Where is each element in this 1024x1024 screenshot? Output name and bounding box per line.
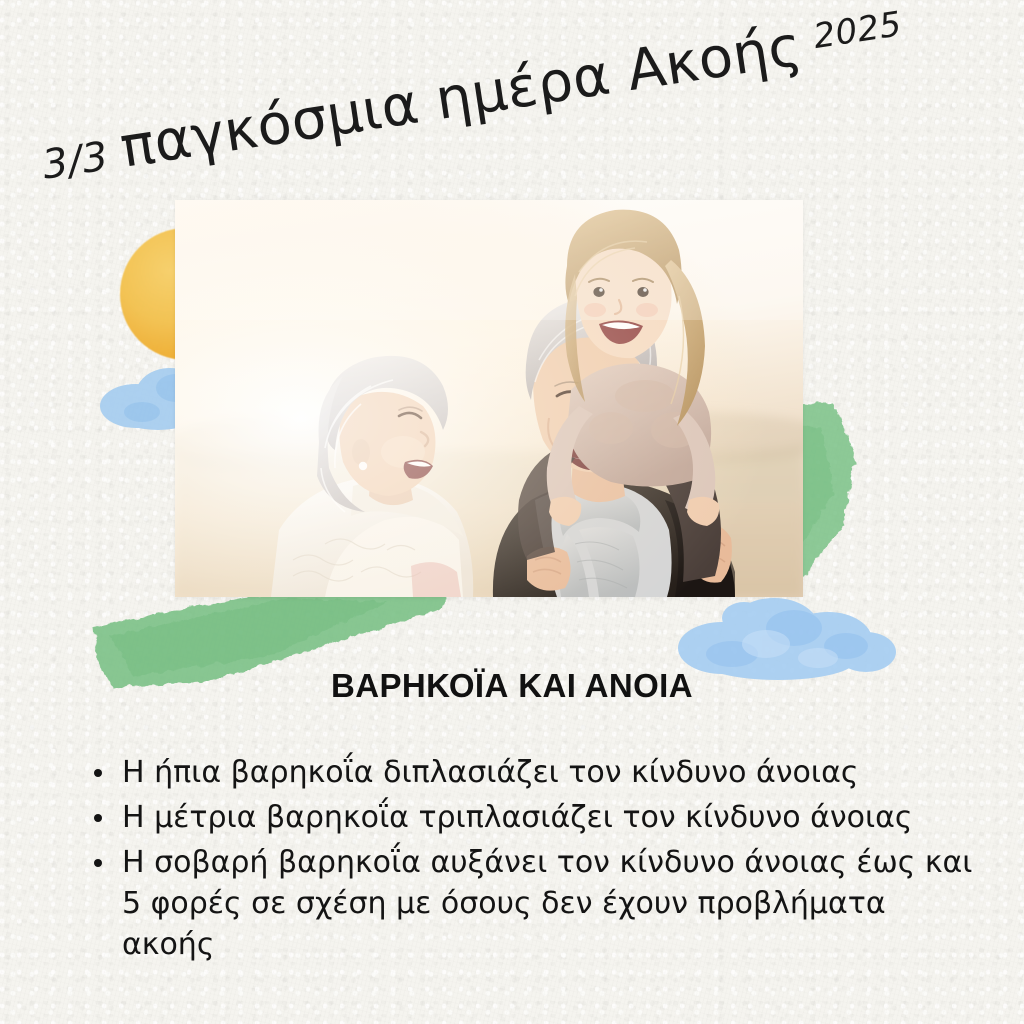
title-line: 3/3 παγκόσμια ημέρα Ακοής 2025 (37, 0, 907, 193)
list-item-text: Η μέτρια βαρηκοΐα τριπλασιάζει τον κίνδυ… (122, 800, 913, 835)
bullet-dot-icon (94, 769, 102, 777)
poster-canvas: 3/3 παγκόσμια ημέρα Ακοής 2025 ΒΑΡΗΚΟΪΑ … (0, 0, 1024, 1024)
title-year: 2025 (811, 4, 905, 57)
list-item: Η σοβαρή βαρηκοΐα αυξάνει τον κίνδυνο άν… (84, 842, 984, 965)
list-item: Η μέτρια βαρηκοΐα τριπλασιάζει τον κίνδυ… (84, 797, 984, 838)
bullet-dot-icon (94, 814, 102, 822)
title-main-text: παγκόσμια ημέρα Ακοής (116, 14, 806, 181)
section-heading: ΒΑΡΗΚΟΪΑ ΚΑΙ ΑΝΟΙΑ (0, 667, 1024, 705)
facts-list: Η ήπια βαρηκοΐα διπλασιάζει τον κίνδυνο … (84, 752, 984, 969)
list-item-text: Η σοβαρή βαρηκοΐα αυξάνει τον κίνδυνο άν… (122, 845, 972, 962)
list-item: Η ήπια βαρηκοΐα διπλασιάζει τον κίνδυνο … (84, 752, 984, 793)
list-item-text: Η ήπια βαρηκοΐα διπλασιάζει τον κίνδυνο … (122, 755, 858, 790)
poster-title: 3/3 παγκόσμια ημέρα Ακοής 2025 (0, 0, 1024, 230)
title-date: 3/3 (39, 133, 111, 188)
family-photo (175, 200, 803, 597)
bullet-dot-icon (94, 859, 102, 867)
